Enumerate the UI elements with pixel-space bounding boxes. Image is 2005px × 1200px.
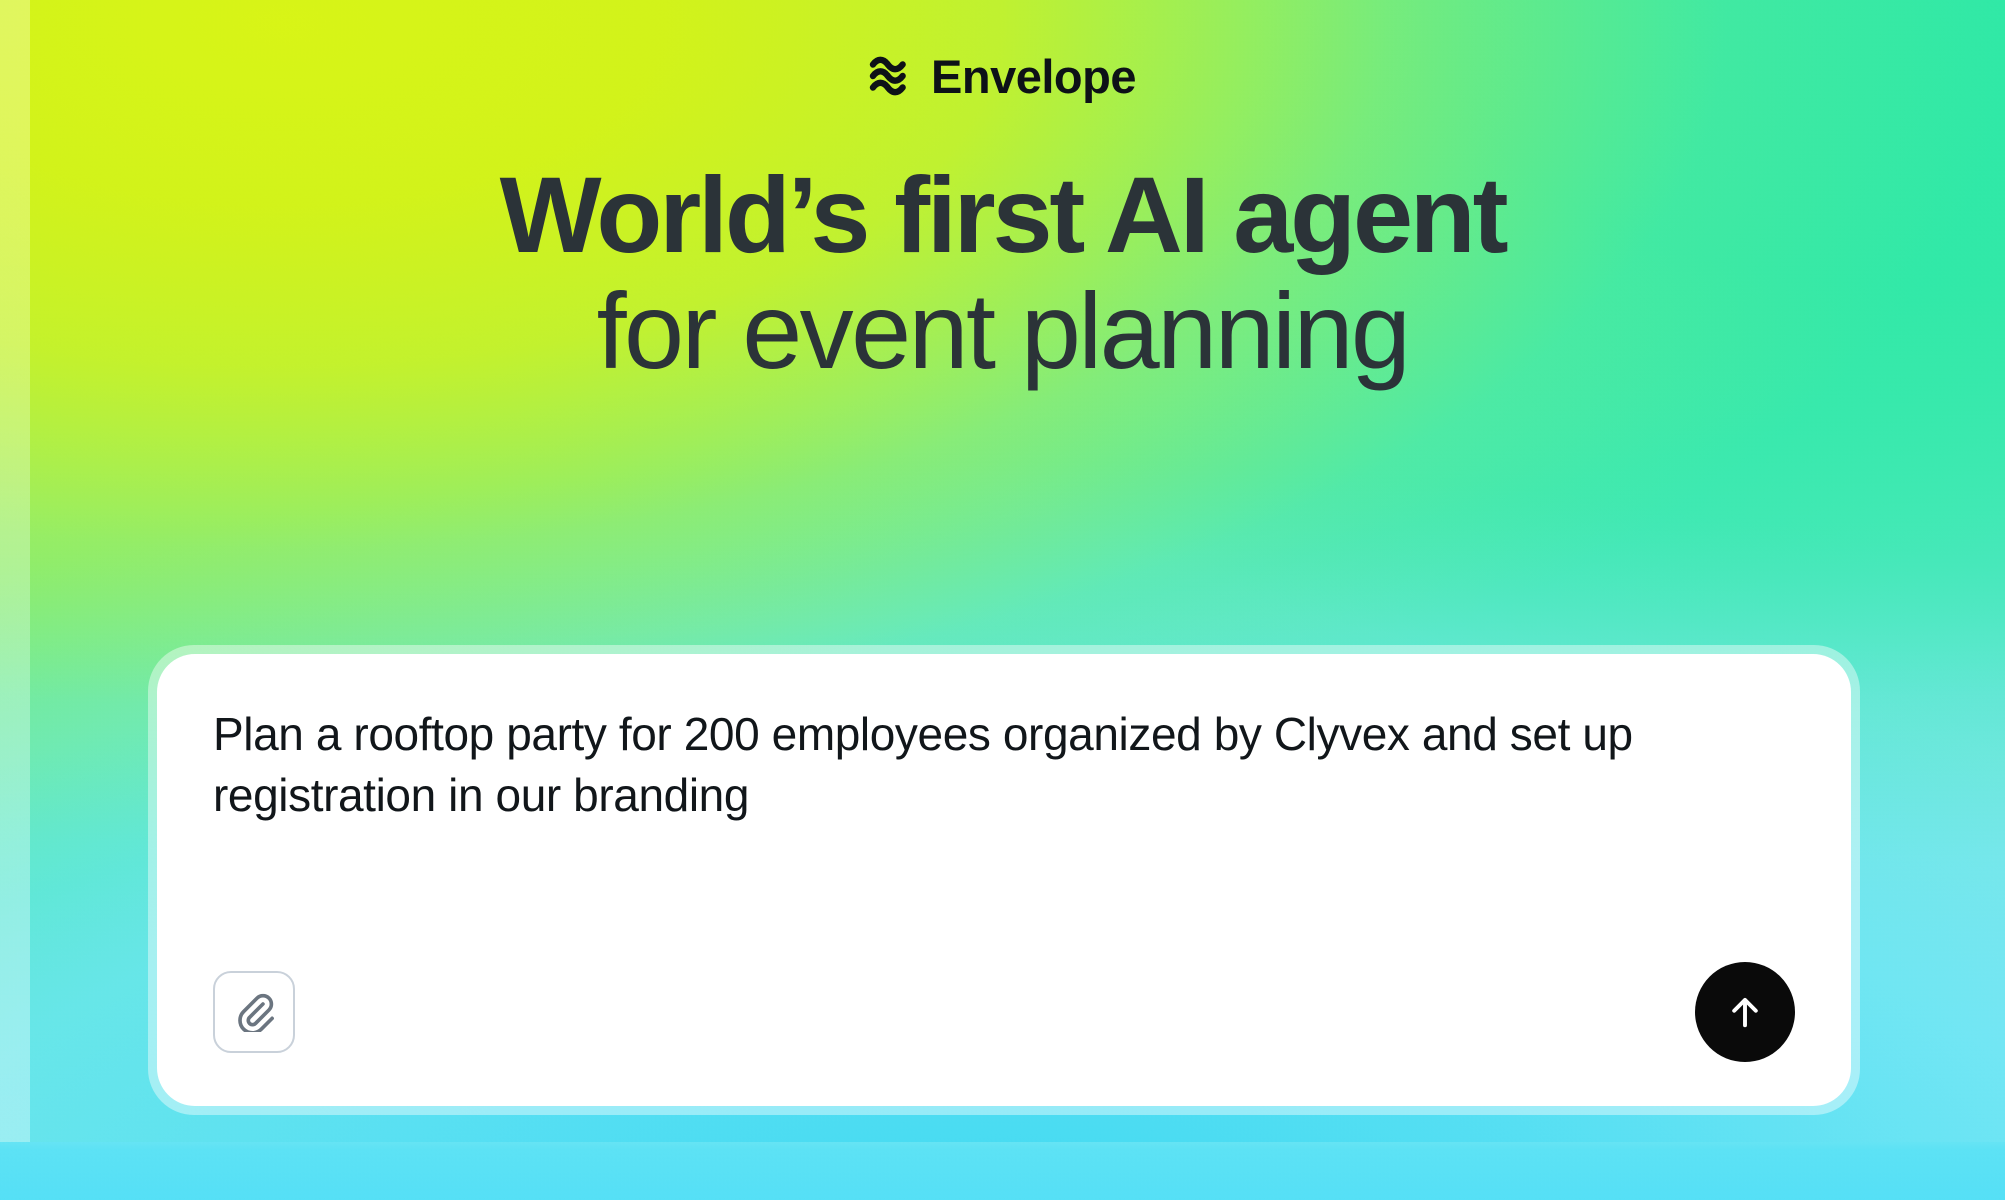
page-title: World’s first AI agent for event plannin…	[500, 160, 1506, 386]
hero-section: Envelope World’s first AI agent for even…	[0, 0, 2005, 1200]
wave-triple-icon	[869, 55, 917, 97]
brand-logo[interactable]: Envelope	[869, 48, 1136, 104]
brand-name: Envelope	[931, 53, 1136, 100]
headline-line-2: for event planning	[500, 276, 1506, 386]
headline-line-1: World’s first AI agent	[500, 160, 1506, 270]
hero-content: Envelope World’s first AI agent for even…	[0, 0, 2005, 1200]
